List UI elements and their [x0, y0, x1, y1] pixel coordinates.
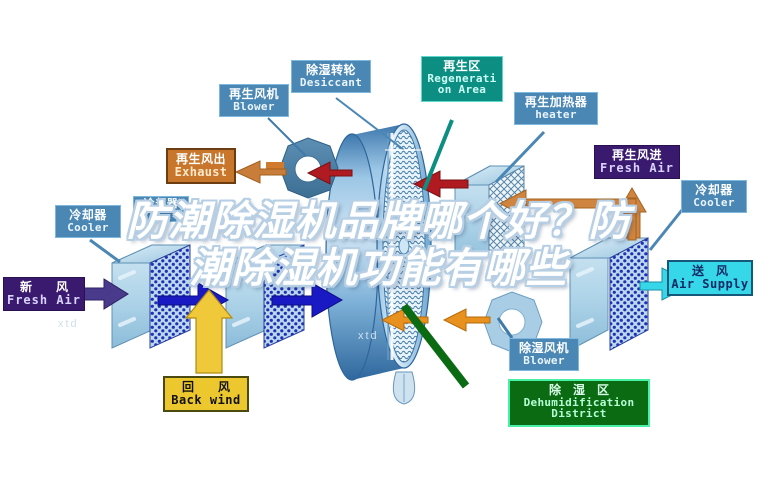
label-regen-blower-en: Blower [222, 101, 286, 113]
label-regeneration-area-cn: 再生区 [424, 60, 500, 73]
dry-air-arrow-1 [444, 309, 490, 331]
label-back-wind: 回 风 Back wind [163, 376, 249, 412]
label-exhaust: 再生风出 Exhaust [166, 148, 236, 184]
label-regen-heater: 再生加热器 heater [514, 92, 598, 125]
label-desiccant-cn: 除湿转轮 [294, 64, 368, 77]
label-regen-heater-cn: 再生加热器 [517, 96, 595, 109]
watermark-right: xtd [358, 330, 379, 342]
cooler-coil-3 [570, 238, 648, 350]
label-fresh-air-in-cn: 新 风 [6, 281, 82, 294]
label-dehum-district-en2: District [512, 408, 646, 420]
label-back-wind-cn: 回 风 [167, 381, 245, 394]
label-desiccant-en: Desiccant [294, 77, 368, 89]
label-regen-blower: 再生风机 Blower [219, 84, 289, 117]
label-back-wind-en: Back wind [167, 394, 245, 407]
label-cooler-right-en: Cooler [684, 197, 744, 209]
label-air-supply-cn: 送 风 [671, 265, 749, 278]
watermark-left: xtd [58, 318, 79, 330]
label-dehum-district-cn: 除 湿 区 [512, 384, 646, 397]
schematic-canvas: xtd xtd 除湿转轮 Desiccant 再生风机 Blower 再生区 R… [0, 0, 757, 488]
label-cooler-mid-cn: 冷却器 [136, 199, 186, 211]
label-exhaust-cn: 再生风出 [170, 153, 232, 166]
desiccant-wheel [326, 124, 431, 404]
label-regeneration-area-en2: on Area [424, 84, 500, 96]
label-regen-fresh-air-cn: 再生风进 [597, 149, 677, 162]
label-regen-fresh-air: 再生风进 Fresh Air [594, 145, 680, 179]
label-cooler-left: 冷却器 Cooler [55, 205, 121, 238]
label-fresh-air-in-en: Fresh Air [6, 294, 82, 307]
label-regen-heater-en: heater [517, 109, 595, 121]
label-regeneration-area: 再生区 Regenerati on Area [421, 56, 503, 102]
label-regen-blower-cn: 再生风机 [222, 88, 286, 101]
label-cooler-left-en: Cooler [58, 222, 118, 234]
label-cooler-right-cn: 冷却器 [684, 184, 744, 197]
label-fresh-air-in: 新 风 Fresh Air [3, 277, 85, 311]
label-exhaust-en: Exhaust [170, 166, 232, 179]
label-dehum-blower-en: Blower [512, 355, 576, 367]
label-air-supply-en: Air Supply [671, 278, 749, 291]
label-dehumidification-district: 除 湿 区 Dehumidification District [508, 379, 650, 427]
label-air-supply: 送 风 Air Supply [667, 260, 753, 296]
label-cooler-left-cn: 冷却器 [58, 209, 118, 222]
label-cooler-mid: 冷却器 [133, 196, 189, 222]
label-regen-fresh-air-en: Fresh Air [597, 162, 677, 175]
label-dehum-blower-cn: 除湿风机 [512, 342, 576, 355]
label-desiccant: 除湿转轮 Desiccant [291, 60, 371, 93]
label-cooler-right: 冷却器 Cooler [681, 180, 747, 213]
label-dehum-blower: 除湿风机 Blower [509, 338, 579, 371]
